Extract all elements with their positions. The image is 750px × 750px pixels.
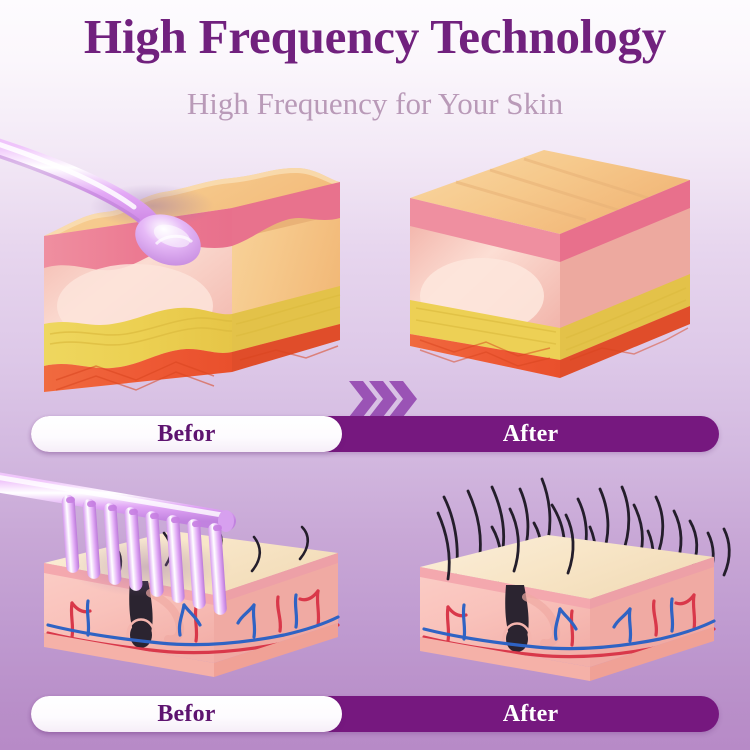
after-label-wrinkle: After [342, 416, 719, 452]
page-title: High Frequency Technology [0, 10, 750, 65]
label-bar-wrinkle: Befor After [31, 416, 719, 452]
poster: High Frequency Technology High Frequency… [0, 0, 750, 750]
comparison-row-wrinkle [0, 128, 750, 418]
before-label-hair: Befor [31, 696, 342, 732]
thin-hair-scalp-diagram [0, 455, 360, 695]
smooth-skin-diagram [390, 128, 750, 418]
after-label-hair: After [342, 696, 719, 732]
before-label-wrinkle: Befor [31, 416, 342, 452]
comparison-row-hair [0, 455, 750, 695]
wrinkled-skin-diagram [0, 128, 360, 418]
dense-hair-scalp-diagram [390, 455, 750, 695]
page-subtitle: High Frequency for Your Skin [0, 86, 750, 122]
after-illustration-hair [390, 455, 750, 695]
after-illustration-wrinkle [390, 128, 750, 418]
label-bar-hair: Befor After [31, 696, 719, 732]
before-illustration-hair [0, 455, 360, 695]
before-illustration-wrinkle [0, 128, 360, 418]
